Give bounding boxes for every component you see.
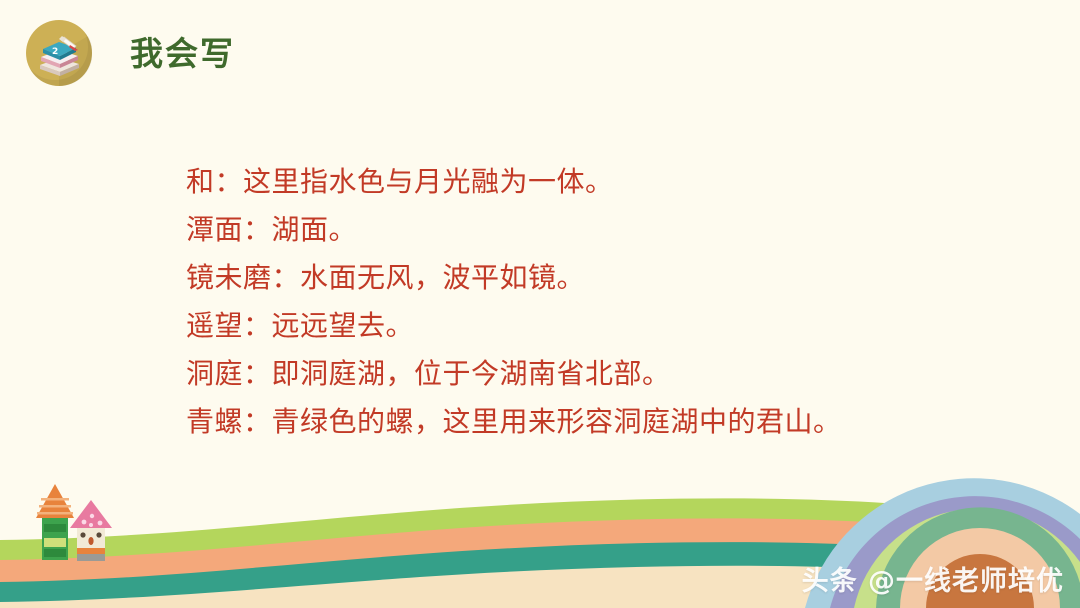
watermark: 头条 @一线老师培优 bbox=[802, 559, 1064, 598]
stacked-books-icon: 2 bbox=[26, 20, 92, 86]
slide-canvas: 2 我会写 和：这里指水色与月光融为一体。 潭面：湖面。 镜未磨：水面无风，波平… bbox=[0, 0, 1080, 608]
slide-header: 2 我会写 bbox=[26, 20, 235, 86]
definition-line: 和：这里指水色与月光融为一体。 bbox=[186, 158, 842, 206]
svg-text:2: 2 bbox=[52, 47, 58, 57]
house-orange-roof-icon bbox=[36, 484, 74, 560]
house-pink-roof-icon bbox=[70, 500, 112, 561]
cartoon-houses bbox=[22, 480, 142, 572]
definition-line: 洞庭：即洞庭湖，位于今湖南省北部。 bbox=[186, 350, 842, 398]
page-title: 我会写 bbox=[130, 37, 235, 70]
definition-line: 遥望：远远望去。 bbox=[186, 302, 842, 350]
definition-line: 潭面：湖面。 bbox=[186, 206, 842, 254]
definitions-list: 和：这里指水色与月光融为一体。 潭面：湖面。 镜未磨：水面无风，波平如镜。 遥望… bbox=[186, 158, 842, 446]
definition-line: 镜未磨：水面无风，波平如镜。 bbox=[186, 254, 842, 302]
definition-line: 青螺：青绿色的螺，这里用来形容洞庭湖中的君山。 bbox=[186, 398, 842, 446]
